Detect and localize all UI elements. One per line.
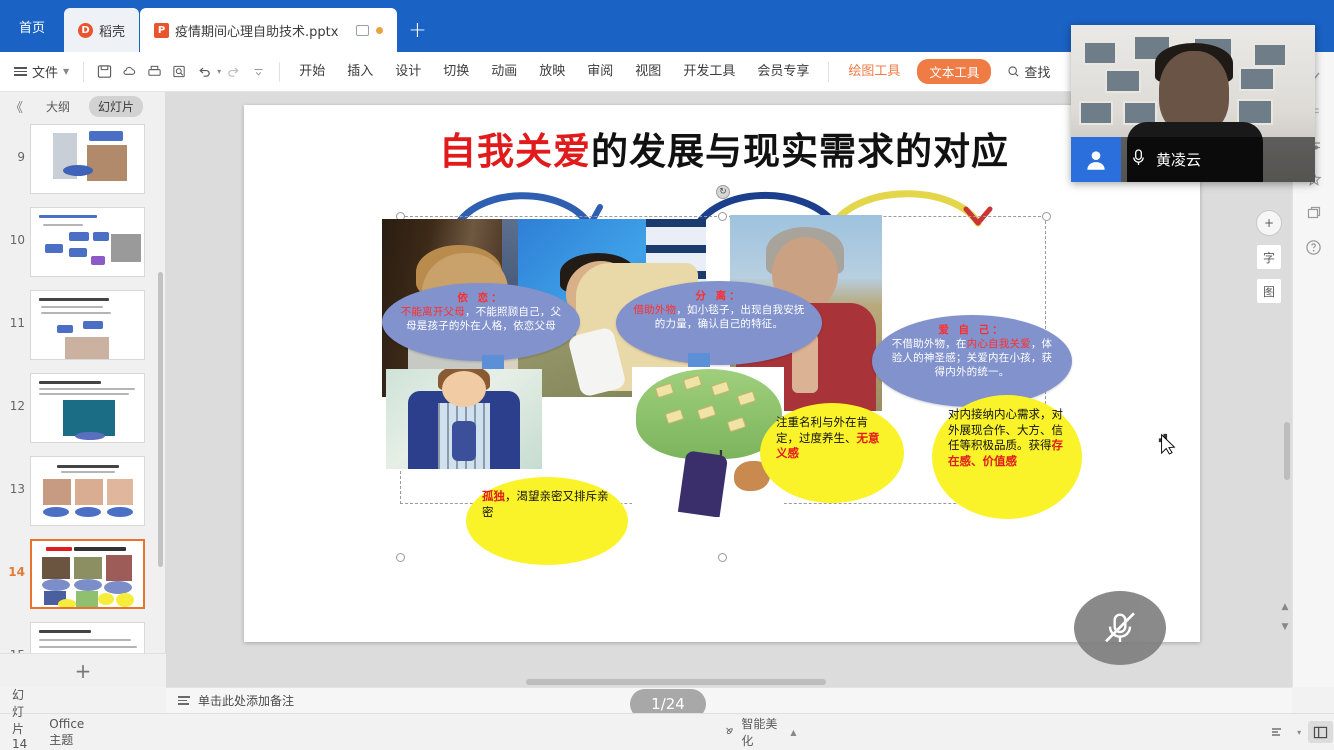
mouse-cursor xyxy=(1157,431,1179,455)
docer-icon: D xyxy=(78,23,93,38)
wall-photo xyxy=(1105,69,1141,93)
mute-microphone-button[interactable] xyxy=(1074,591,1166,665)
help-icon[interactable] xyxy=(1299,230,1329,264)
canvas-side-tools: + 字 图 xyxy=(1256,210,1284,312)
theme-name[interactable]: Office 主题 xyxy=(49,717,84,748)
callout-prefix: 注重名利与外在肯定，过度养生、 xyxy=(776,415,868,445)
menu-animation[interactable]: 动画 xyxy=(480,52,528,92)
callout-meaninglessness[interactable]: 注重名利与外在肯定，过度养生、无意义感 xyxy=(760,403,904,503)
thumbnail-item-10[interactable]: 10 xyxy=(0,207,165,290)
microphone-icon xyxy=(1131,148,1146,171)
callout-prefix: 对内接纳内心需求，对外展现合作、大方、信任等积极品质。获得 xyxy=(948,407,1063,452)
thumbnail-number: 9 xyxy=(2,124,30,164)
illustration-detail xyxy=(452,421,476,461)
thumbnail-preview[interactable] xyxy=(30,373,145,443)
status-right-controls: 智能美化 ▲ ▾ ▶ ▾ 76% ▾ − xyxy=(724,721,1334,743)
tab-outline[interactable]: 大纲 xyxy=(37,96,79,117)
next-slide-button[interactable]: ▼ xyxy=(1278,622,1292,632)
notes-placeholder: 单击此处添加备注 xyxy=(198,692,294,709)
notes-icon xyxy=(178,696,190,705)
menu-icon xyxy=(14,67,27,76)
beautify-button[interactable]: 智能美化 ▲ xyxy=(724,721,796,743)
menu-start[interactable]: 开始 xyxy=(288,52,336,92)
add-slide-button[interactable]: + xyxy=(0,653,166,687)
notes-pane[interactable]: 单击此处添加备注 xyxy=(166,687,1292,713)
wps-presentation-window: 首页 D 稻壳 P 疫情期间心理自助技术.pptx + 文件 ▼ xyxy=(0,0,1334,750)
copy-icon[interactable] xyxy=(1299,196,1329,230)
callout-title: 爱 自 己： xyxy=(888,324,1056,338)
thumbnail-item-11[interactable]: 11 xyxy=(0,290,165,373)
tab-home[interactable]: 首页 xyxy=(0,0,64,52)
callout-body: ，如小毯子，出现自我安抚的力量，确认自己的特征。 xyxy=(655,304,805,330)
slide-title-highlight: 自我关爱 xyxy=(439,130,591,173)
menu-member-exclusive[interactable]: 会员专享 xyxy=(746,52,820,92)
callout-highlight: 孤独 xyxy=(482,489,505,503)
callout-separation[interactable]: 分 离：借助外物，如小毯子，出现自我安抚的力量，确认自己的特征。 xyxy=(616,281,822,365)
illustration-detail xyxy=(678,450,728,517)
selection-handle-bm[interactable] xyxy=(718,553,727,562)
beautify-label: 智能美化 xyxy=(741,715,786,749)
divider xyxy=(828,62,829,82)
present-screen-icon[interactable] xyxy=(356,25,369,36)
image-tool-button[interactable]: 图 xyxy=(1256,278,1282,304)
tab-extra-controls xyxy=(356,25,383,36)
callout-title: 分 离： xyxy=(632,290,806,304)
new-tab-button[interactable]: + xyxy=(398,8,436,52)
prev-slide-button[interactable]: ▲ xyxy=(1278,602,1292,612)
callout-highlight: 借助外物 xyxy=(633,304,676,316)
text-tool-button[interactable]: 字 xyxy=(1256,244,1282,270)
callout-title: 依 恋： xyxy=(398,292,564,306)
notes-view-icon[interactable] xyxy=(1265,721,1290,743)
thumbnail-preview[interactable] xyxy=(30,290,145,360)
wall-photo xyxy=(1079,101,1113,125)
tab-docer[interactable]: D 稻壳 xyxy=(64,8,139,52)
canvas-vertical-scrollbar[interactable] xyxy=(1284,422,1290,480)
search-icon xyxy=(1007,65,1020,78)
thumbnail-number: 12 xyxy=(2,373,30,413)
selection-handle-bl[interactable] xyxy=(396,553,405,562)
thumbnail-item-9[interactable]: 9 xyxy=(0,124,165,207)
redo-icon[interactable] xyxy=(221,59,246,84)
slide-surface[interactable]: 自我关爱的发展与现实需求的对应 ↻ xyxy=(244,105,1200,642)
menu-review[interactable]: 审阅 xyxy=(576,52,624,92)
menu-insert[interactable]: 插入 xyxy=(336,52,384,92)
undo-icon[interactable] xyxy=(192,59,217,84)
person-icon xyxy=(1071,137,1121,182)
find-label: 查找 xyxy=(1024,62,1050,81)
illustration-detail xyxy=(442,371,486,407)
participant-name: 黄凌云 xyxy=(1156,149,1201,170)
thumbnail-item-14[interactable]: 14 xyxy=(0,539,165,622)
menu-draw-tools[interactable]: 绘图工具 xyxy=(837,52,911,92)
status-bar: 幻灯片 14 / 19 Office 主题 智能美化 ▲ ▾ xyxy=(0,713,1334,750)
ppt-icon: P xyxy=(154,23,169,38)
callout-self-love[interactable]: 爱 自 己：不借助外物，在内心自我关爱，体验人的神圣感；关爱内在小孩，获得内外的… xyxy=(872,315,1072,407)
wall-photo xyxy=(1253,43,1287,67)
slide-title-rest: 的发展与现实需求的对应 xyxy=(591,130,1009,173)
tab-slides[interactable]: 幻灯片 xyxy=(89,96,143,117)
selection-handle-tr[interactable] xyxy=(1042,212,1051,221)
more-commands-icon[interactable] xyxy=(246,59,271,84)
callout-highlight: 不能离开父母 xyxy=(401,306,465,318)
wall-photo xyxy=(1239,67,1275,91)
menu-view[interactable]: 视图 xyxy=(624,52,672,92)
callout-highlight: 内心自我关爱 xyxy=(967,338,1031,350)
panel-header: 《 大纲 幻灯片 xyxy=(0,92,165,120)
tab-presentation[interactable]: P 疫情期间心理自助技术.pptx xyxy=(140,8,397,52)
print-icon[interactable] xyxy=(142,59,167,84)
thumbnail-list[interactable]: 9 10 xyxy=(0,120,165,687)
thumbnail-item-13[interactable]: 13 xyxy=(0,456,165,539)
mic-muted-icon xyxy=(1100,608,1140,648)
file-menu-button[interactable]: 文件 ▼ xyxy=(8,62,75,81)
status-left: 幻灯片 14 / 19 Office 主题 xyxy=(0,686,84,750)
cloud-sync-icon[interactable] xyxy=(117,59,142,84)
thumbnail-preview-selected[interactable] xyxy=(30,539,145,609)
thumbnail-number: 13 xyxy=(2,456,30,496)
selection-handle-tm[interactable] xyxy=(718,212,727,221)
rotate-handle[interactable]: ↻ xyxy=(716,185,730,199)
callout-value-sense[interactable]: 对内接纳内心需求，对外展现合作、大方、信任等积极品质。获得存在感、价值感 xyxy=(932,395,1082,519)
slide-counter: 幻灯片 14 / 19 xyxy=(12,686,27,750)
menu-text-tools[interactable]: 文本工具 xyxy=(917,59,991,84)
callout-prefix: 不借助外物，在 xyxy=(892,338,967,350)
normal-view-icon[interactable] xyxy=(1308,721,1333,743)
panel-scrollbar[interactable] xyxy=(158,272,163,567)
print-preview-icon[interactable] xyxy=(167,59,192,84)
chevron-up-icon: ▲ xyxy=(790,728,796,737)
illustration-caged-inner-child[interactable] xyxy=(386,369,542,469)
unsaved-dot-icon xyxy=(376,27,383,34)
menu-transition[interactable]: 切换 xyxy=(432,52,480,92)
add-element-button[interactable]: + xyxy=(1256,210,1282,236)
magic-wand-icon xyxy=(724,725,737,739)
thumbnail-preview[interactable] xyxy=(30,124,145,194)
thumbnail-preview[interactable] xyxy=(30,207,145,277)
video-name-bar: 黄凌云 xyxy=(1071,137,1315,182)
thumbnail-number: 10 xyxy=(2,207,30,247)
thumbnail-preview[interactable] xyxy=(30,456,145,526)
menu-slideshow[interactable]: 放映 xyxy=(528,52,576,92)
callout-loneliness[interactable]: 孤独，渴望亲密又排斥亲密 xyxy=(466,477,628,565)
divider xyxy=(279,62,280,82)
chevron-down-icon: ▼ xyxy=(63,67,69,76)
find-button[interactable]: 查找 xyxy=(997,62,1060,81)
slide-thumbnail-panel: 《 大纲 幻灯片 9 10 xyxy=(0,92,166,687)
file-menu-label: 文件 xyxy=(32,62,58,81)
thumbnail-number: 14 xyxy=(2,539,30,579)
divider xyxy=(83,62,84,82)
wall-photo xyxy=(1083,41,1117,65)
collapse-panel-button[interactable]: 《 xyxy=(6,97,27,116)
thumbnail-number: 11 xyxy=(2,290,30,330)
save-icon[interactable] xyxy=(92,59,117,84)
menu-developer-tools[interactable]: 开发工具 xyxy=(672,52,746,92)
thumbnail-item-12[interactable]: 12 xyxy=(0,373,165,456)
view-dropdown-icon[interactable]: ▾ xyxy=(1297,728,1301,737)
menu-design[interactable]: 设计 xyxy=(384,52,432,92)
callout-attachment[interactable]: 依 恋：不能离开父母，不能照顾自己，父母是孩子的外在人格，依恋父母 xyxy=(382,283,580,361)
tab-docer-label: 稻壳 xyxy=(99,21,125,40)
slide-title[interactable]: 自我关爱的发展与现实需求的对应 xyxy=(284,121,1164,175)
video-call-overlay[interactable]: 黄凌云 xyxy=(1071,25,1315,182)
tab-presentation-label: 疫情期间心理自助技术.pptx xyxy=(175,21,338,40)
canvas-horizontal-scrollbar[interactable] xyxy=(526,679,826,685)
